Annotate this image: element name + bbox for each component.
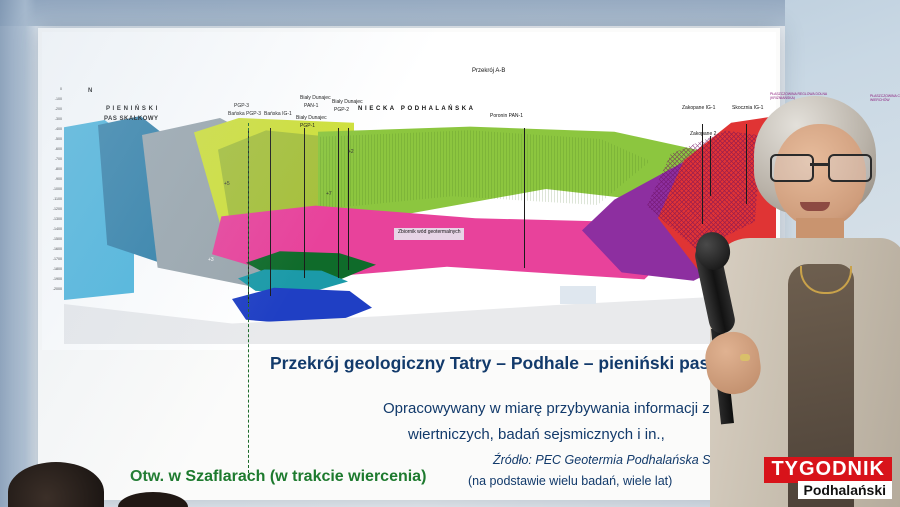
well-label-banska-ig1: Bańska IG-1 (264, 112, 292, 118)
glasses-left-lens (770, 154, 814, 182)
well-line-bd-pgp2 (338, 128, 339, 278)
ring (740, 354, 750, 361)
glasses-icon (770, 154, 872, 180)
region-label-pieninski: P I E N I Ń S K I (106, 106, 158, 112)
well-label-pan1: PAN-1 (304, 104, 318, 110)
watermark-top-text: TYGODNIK (764, 457, 892, 483)
depth-axis: 0-100-200 -300-400-500 -600-700-800 -900… (52, 87, 62, 292)
mouth (800, 202, 830, 211)
well-label-pgp3: PGP-3 (234, 104, 249, 110)
unit-code-5: +5 (224, 182, 230, 188)
region-label-pas-skalkowy: PAS SKAŁKOWY (104, 116, 159, 122)
annotation-reservoir: Zbiornik wód geotermalnych (398, 230, 461, 236)
watermark: TYGODNIK Podhalański (728, 457, 892, 501)
photo-scene: 0-100-200 -300-400-500 -600-700-800 -900… (0, 0, 900, 507)
geological-cross-section-figure: 0-100-200 -300-400-500 -600-700-800 -900… (42, 32, 776, 350)
well-label-bd-3: Biały Dunajec (296, 116, 327, 122)
figure-section-title: Przekrój A-B (472, 68, 505, 74)
well-line-poronin-pan1 (524, 128, 525, 268)
well-label-pgp2: PGP-2 (334, 108, 349, 114)
glasses-right-lens (828, 154, 872, 182)
well-label-bd-1: Biały Dunajec (300, 96, 331, 102)
well-label-bd-2: Biały Dunajec (332, 100, 363, 106)
screen-left-shadow (0, 0, 36, 507)
well-label-banska-pgp3: Bańska PGP-3 (228, 112, 261, 118)
slide-source-line-2: (na podstawie wielu badań, wiele lat) (468, 474, 672, 488)
presenter-person (696, 96, 900, 507)
glasses-bridge (810, 163, 828, 166)
watermark-bottom-text: Podhalański (798, 481, 892, 499)
pointer-dashed-line (248, 123, 249, 478)
slide-body-line-2: wiertniczych, badań sejsmicznych i in., (408, 426, 665, 443)
region-label-niecka: N I E C K A P O D H A L A Ń S K A (358, 106, 473, 112)
compass-north-label: N (88, 88, 93, 94)
screen-top-shadow (0, 0, 785, 26)
well-line-bd-pan1 (304, 128, 305, 278)
projection-screen: 0-100-200 -300-400-500 -600-700-800 -900… (0, 0, 785, 507)
slide-source-line-1: Źródło: PEC Geotermia Podhalańska S.A. (493, 453, 726, 467)
well-label-poronin-pan1: Poronin PAN-1 (490, 114, 523, 120)
figure-glare-patch-1 (560, 286, 596, 304)
well-label-pgp1: PGP-1 (300, 124, 315, 130)
unit-code-7: +7 (326, 192, 332, 198)
unit-code-2: +2 (348, 150, 354, 156)
presentation-slide: 0-100-200 -300-400-500 -600-700-800 -900… (38, 28, 780, 500)
well-line-banska-ig1 (270, 128, 271, 296)
slide-highlight-note: Otw. w Szaflarach (w trakcie wiercenia) (130, 468, 426, 486)
unit-code-3: +3 (208, 258, 214, 264)
